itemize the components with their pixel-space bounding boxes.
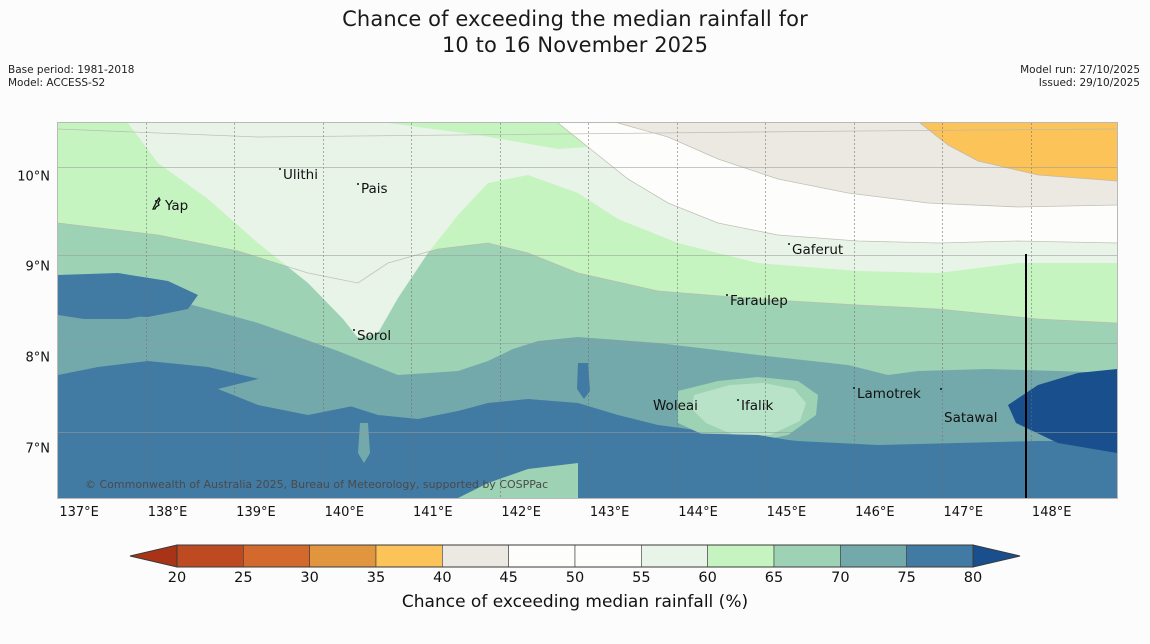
gridline-vertical <box>1031 123 1032 498</box>
gridline-vertical <box>765 123 766 498</box>
colorbar-tick-75: 75 <box>897 570 915 586</box>
longitude-tick-label: 148°E <box>1032 505 1072 520</box>
forecast-map-page: Chance of exceeding the median rainfall … <box>0 0 1150 644</box>
colorbar[interactable] <box>110 543 1040 569</box>
issued-text: Issued: 29/10/2025 <box>1020 77 1140 90</box>
place-label-woleai: Woleai <box>653 398 698 414</box>
place-label-sorol: Sorol <box>357 328 391 344</box>
gridline-horizontal <box>58 167 1117 168</box>
page-title: Chance of exceeding the median rainfall … <box>0 6 1150 58</box>
longitude-tick-label: 145°E <box>767 505 807 520</box>
island-marker-dot <box>737 399 739 401</box>
colorbar-band <box>575 545 641 567</box>
colorbar-band <box>840 545 906 567</box>
colorbar-band <box>708 545 774 567</box>
gridline-vertical <box>146 123 147 498</box>
gridline-vertical <box>500 123 501 498</box>
colorbar-tick-70: 70 <box>831 570 849 586</box>
colorbar-band <box>376 545 442 567</box>
longitude-tick-label: 143°E <box>590 505 630 520</box>
island-marker-dot <box>940 388 942 390</box>
colorbar-tick-50: 50 <box>566 570 584 586</box>
longitude-tick-label: 138°E <box>148 505 188 520</box>
island-marker-dot <box>853 387 855 389</box>
place-label-yap: Yap <box>165 198 188 214</box>
longitude-tick-label: 147°E <box>944 505 984 520</box>
base-period-text: Base period: 1981-2018 <box>8 64 134 77</box>
longitude-tick-label: 139°E <box>236 505 276 520</box>
gridline-horizontal <box>58 343 1117 344</box>
gridline-vertical <box>411 123 412 498</box>
colorbar-tick-45: 45 <box>499 570 517 586</box>
place-label-ulithi: Ulithi <box>283 167 318 183</box>
place-label-pais: Pais <box>361 181 388 197</box>
colorbar-band <box>243 545 309 567</box>
yap-island-icon <box>150 196 166 212</box>
colorbar-band <box>177 545 243 567</box>
gridline-vertical <box>942 123 943 498</box>
longitude-tick-label: 137°E <box>59 505 99 520</box>
latitude-tick-label: 8°N <box>26 351 51 366</box>
island-marker-dot <box>353 329 355 331</box>
title-line-1: Chance of exceeding the median rainfall … <box>0 6 1150 32</box>
gridline-horizontal <box>58 255 1117 256</box>
colorbar-tick-20: 20 <box>168 570 186 586</box>
place-label-ifalik: Ifalik <box>741 398 773 414</box>
island-marker-dot <box>357 183 359 185</box>
gridline-vertical <box>677 123 678 498</box>
gridline-vertical <box>854 123 855 498</box>
colorbar-tick-25: 25 <box>234 570 252 586</box>
place-label-satawal: Satawal <box>944 410 997 426</box>
longitude-tick-label: 142°E <box>501 505 541 520</box>
colorbar-title: Chance of exceeding median rainfall (%) <box>0 592 1150 612</box>
title-line-2: 10 to 16 November 2025 <box>0 32 1150 58</box>
latitude-tick-label: 7°N <box>26 442 51 457</box>
longitude-tick-label: 146°E <box>855 505 895 520</box>
colorbar-tick-30: 30 <box>300 570 318 586</box>
island-marker-dot <box>726 294 728 296</box>
place-label-gaferut: Gaferut <box>792 242 843 258</box>
colorbar-band <box>907 545 973 567</box>
colorbar-tick-40: 40 <box>433 570 451 586</box>
rainfall-probability-map[interactable]: © Commonwealth of Australia 2025, Bureau… <box>57 122 1118 499</box>
colorbar-tick-60: 60 <box>698 570 716 586</box>
colorbar-tick-80: 80 <box>964 570 982 586</box>
colorbar-tick-65: 65 <box>765 570 783 586</box>
base-period-info: Base period: 1981-2018 Model: ACCESS-S2 <box>8 64 134 90</box>
meridian-marker-line <box>1025 254 1027 499</box>
colorbar-band <box>509 545 575 567</box>
longitude-tick-label: 144°E <box>678 505 718 520</box>
colorbar-band <box>641 545 707 567</box>
place-label-faraulep: Faraulep <box>730 293 788 309</box>
colorbar-tick-35: 35 <box>367 570 385 586</box>
gridline-horizontal <box>58 432 1117 433</box>
longitude-tick-label: 141°E <box>413 505 453 520</box>
colorbar-band <box>774 545 840 567</box>
island-marker-dot <box>279 168 281 170</box>
colorbar-band <box>310 545 376 567</box>
gridline-vertical <box>588 123 589 498</box>
latitude-tick-label: 10°N <box>17 169 50 184</box>
model-run-text: Model run: 27/10/2025 <box>1020 64 1140 77</box>
model-text: Model: ACCESS-S2 <box>8 77 134 90</box>
island-marker-dot <box>788 243 790 245</box>
place-label-lamotrek: Lamotrek <box>857 386 921 402</box>
gridline-vertical <box>234 123 235 498</box>
colorbar-swatches <box>110 543 1040 569</box>
colorbar-band <box>442 545 508 567</box>
run-info: Model run: 27/10/2025 Issued: 29/10/2025 <box>1020 64 1140 90</box>
latitude-tick-label: 9°N <box>26 260 51 275</box>
copyright-text: © Commonwealth of Australia 2025, Bureau… <box>85 478 548 491</box>
gridline-vertical <box>323 123 324 498</box>
colorbar-tick-55: 55 <box>632 570 650 586</box>
longitude-tick-label: 140°E <box>325 505 365 520</box>
